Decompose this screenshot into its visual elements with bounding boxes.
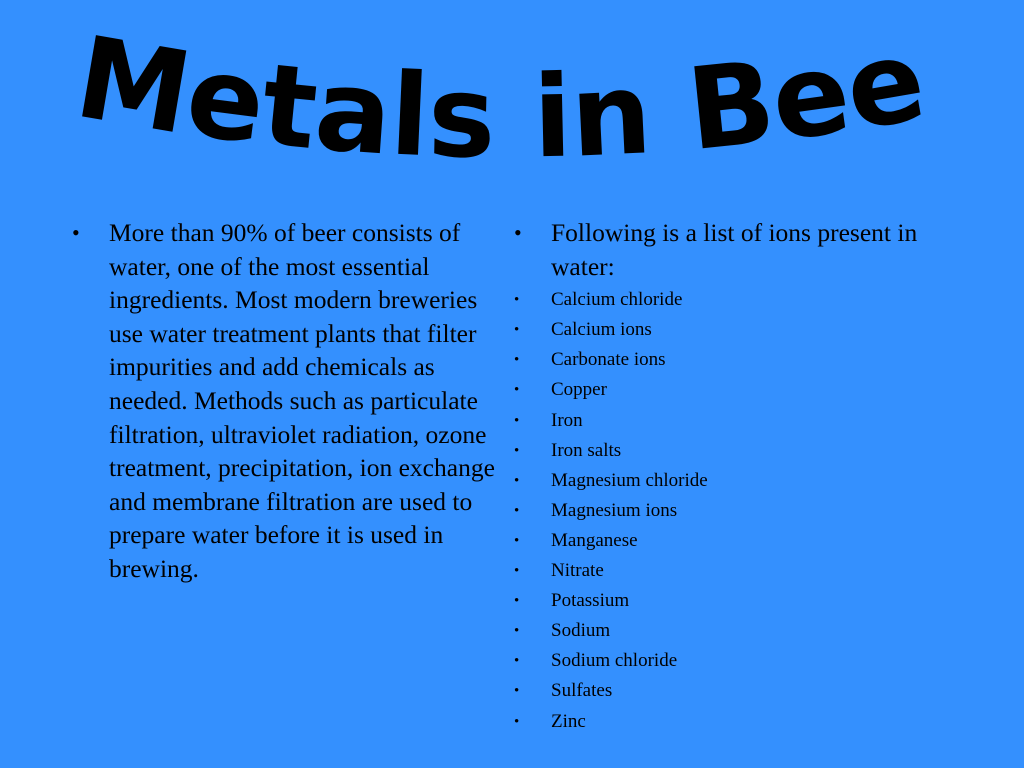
bullet-icon: • bbox=[514, 285, 551, 315]
bullet-icon: • bbox=[514, 436, 551, 466]
bullet-icon: • bbox=[72, 216, 109, 250]
list-item-label: Copper bbox=[551, 375, 984, 405]
ion-list: •Calcium chloride•Calcium ions•Carbonate… bbox=[514, 285, 984, 736]
bullet-icon: • bbox=[514, 216, 551, 250]
bullet-icon: • bbox=[514, 676, 551, 706]
list-item-label: Manganese bbox=[551, 526, 984, 556]
list-item-label: Calcium chloride bbox=[551, 285, 984, 315]
left-content-column: • More than 90% of beer consists of wate… bbox=[72, 216, 502, 586]
ion-list-heading-text: Following is a list of ions present in w… bbox=[551, 216, 984, 283]
list-item-label: Sodium bbox=[551, 616, 984, 646]
bullet-icon: • bbox=[514, 526, 551, 556]
list-item-label: Calcium ions bbox=[551, 315, 984, 345]
bullet-icon: • bbox=[514, 375, 551, 405]
bullet-icon: • bbox=[514, 466, 551, 496]
left-paragraph-bullet: • More than 90% of beer consists of wate… bbox=[72, 216, 502, 586]
list-item: •Magnesium ions bbox=[514, 496, 984, 526]
list-item: •Sulfates bbox=[514, 676, 984, 706]
list-item: •Calcium chloride bbox=[514, 285, 984, 315]
slide-canvas: Metals in Beer • More than 90% of beer c… bbox=[0, 0, 1024, 768]
right-content-column: • Following is a list of ions present in… bbox=[514, 216, 984, 737]
bullet-icon: • bbox=[514, 646, 551, 676]
list-item-label: Carbonate ions bbox=[551, 345, 984, 375]
list-item: •Zinc bbox=[514, 707, 984, 737]
bullet-icon: • bbox=[514, 586, 551, 616]
bullet-icon: • bbox=[514, 406, 551, 436]
list-item: •Iron bbox=[514, 406, 984, 436]
bullet-icon: • bbox=[514, 616, 551, 646]
list-item: •Sodium chloride bbox=[514, 646, 984, 676]
left-paragraph-text: More than 90% of beer consists of water,… bbox=[109, 216, 502, 586]
list-item-label: Magnesium ions bbox=[551, 496, 984, 526]
title-wordart: Metals in Beer bbox=[0, 52, 1024, 197]
title-textpath: Metals in Beer bbox=[0, 0, 934, 184]
slide-body: • More than 90% of beer consists of wate… bbox=[0, 216, 1024, 768]
list-item: •Carbonate ions bbox=[514, 345, 984, 375]
list-item-label: Nitrate bbox=[551, 556, 984, 586]
bullet-icon: • bbox=[514, 556, 551, 586]
title-text: Metals in Beer bbox=[0, 0, 934, 184]
list-item-label: Iron salts bbox=[551, 436, 984, 466]
list-item: •Magnesium chloride bbox=[514, 466, 984, 496]
list-item: •Calcium ions bbox=[514, 315, 984, 345]
list-item: •Copper bbox=[514, 375, 984, 405]
list-item-label: Potassium bbox=[551, 586, 984, 616]
list-item: •Iron salts bbox=[514, 436, 984, 466]
bullet-icon: • bbox=[514, 315, 551, 345]
bullet-icon: • bbox=[514, 345, 551, 375]
list-item: •Manganese bbox=[514, 526, 984, 556]
bullet-icon: • bbox=[514, 707, 551, 737]
ion-list-heading-bullet: • Following is a list of ions present in… bbox=[514, 216, 984, 283]
slide-title: Metals in Beer bbox=[0, 52, 1024, 197]
list-item-label: Iron bbox=[551, 406, 984, 436]
bullet-icon: • bbox=[514, 496, 551, 526]
list-item-label: Magnesium chloride bbox=[551, 466, 984, 496]
list-item-label: Sulfates bbox=[551, 676, 984, 706]
list-item-label: Zinc bbox=[551, 707, 984, 737]
list-item-label: Sodium chloride bbox=[551, 646, 984, 676]
list-item: •Potassium bbox=[514, 586, 984, 616]
list-item: •Sodium bbox=[514, 616, 984, 646]
list-item: •Nitrate bbox=[514, 556, 984, 586]
